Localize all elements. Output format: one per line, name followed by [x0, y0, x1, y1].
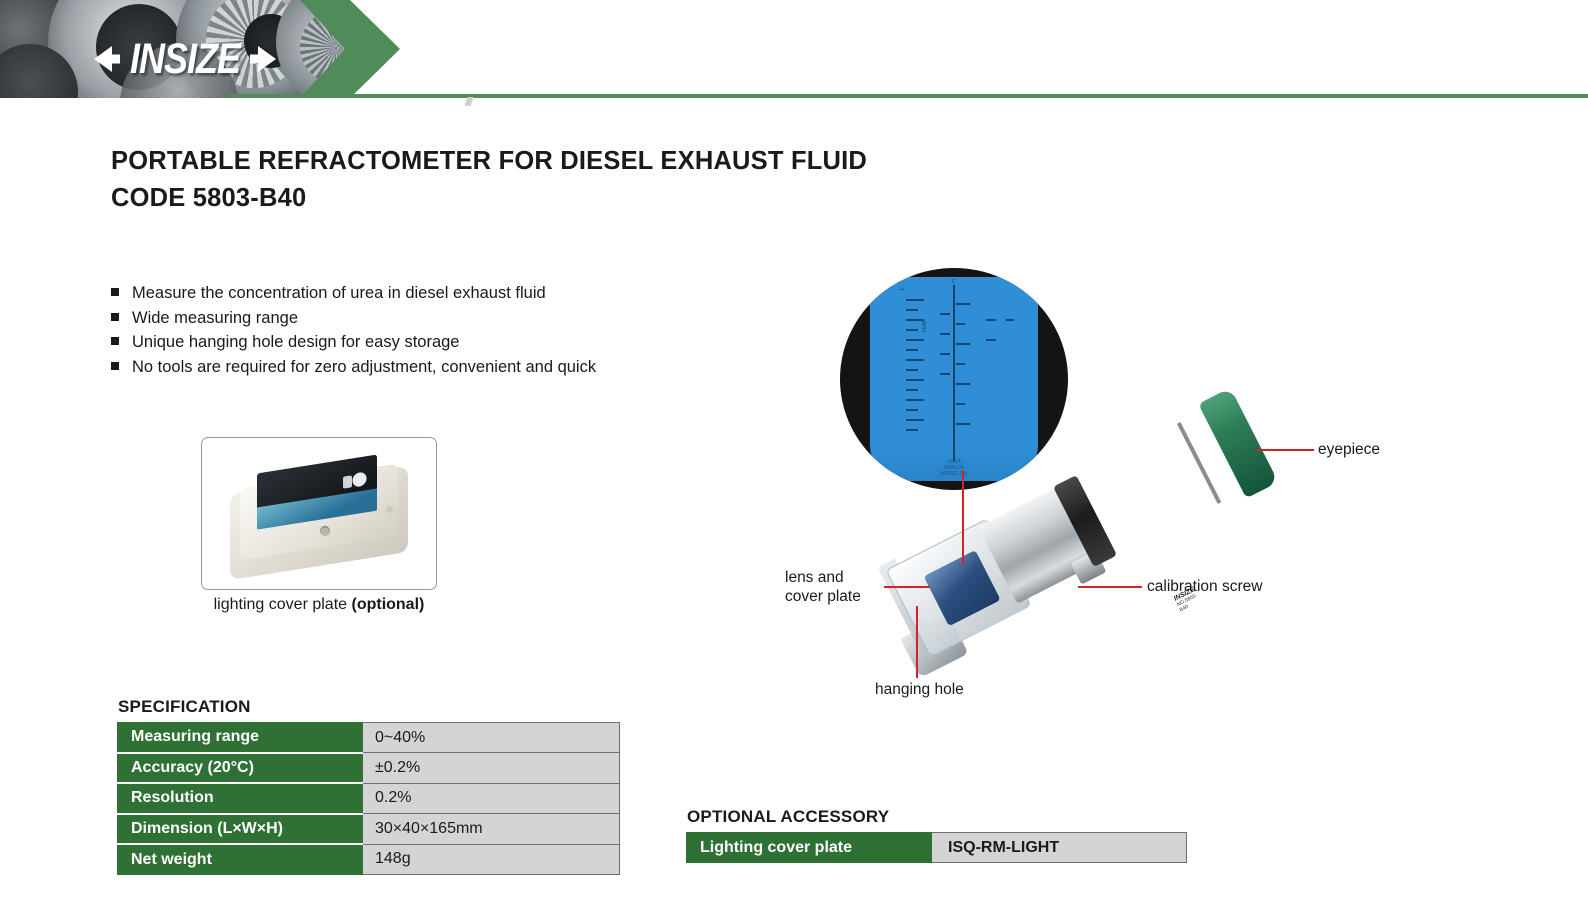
lighting-cover-plate-photo: [201, 437, 437, 590]
specification-table: Measuring range 0~40% Accuracy (20°C) ±0…: [117, 722, 620, 875]
spec-label: Resolution: [118, 783, 363, 814]
table-row: Accuracy (20°C) ±0.2%: [118, 753, 620, 784]
scale-unit-label: °C: [950, 279, 956, 285]
table-row: Resolution 0.2%: [118, 783, 620, 814]
optional-accessory-heading: OPTIONAL ACCESSORY: [687, 807, 889, 827]
spec-label: Measuring range: [118, 723, 363, 753]
header-green-rule: [228, 94, 1588, 98]
list-item: Wide measuring range: [111, 306, 596, 331]
spec-value: 0~40%: [363, 723, 620, 753]
logo-right-arrow-icon: [258, 46, 276, 72]
table-row: Dimension (L×W×H) 30×40×165mm: [118, 814, 620, 845]
accessory-code: ISQ-RM-LIGHT: [932, 833, 1187, 863]
feature-text: Unique hanging hole design for easy stor…: [132, 330, 459, 355]
lens-leader-line: [884, 586, 930, 588]
scale-leader-line: [962, 470, 964, 565]
spec-value: 148g: [363, 844, 620, 874]
table-row: Lighting cover plate ISQ-RM-LIGHT: [687, 833, 1187, 863]
table-row: Net weight 148g: [118, 844, 620, 874]
cover-plate-caption: lighting cover plate (optional): [201, 596, 437, 614]
scale-brix-label: BRIX: [920, 321, 926, 333]
accessory-label: Lighting cover plate: [687, 833, 932, 863]
caption-text: lighting cover plate: [214, 596, 352, 613]
eyepiece-leader-line: [1256, 449, 1314, 451]
table-row: Measuring range 0~40%: [118, 723, 620, 753]
cover-plate-illustration: [202, 438, 436, 589]
feature-text: Wide measuring range: [132, 306, 298, 331]
header-tick-mark: [465, 97, 474, 106]
callout-hanging-hole: hanging hole: [875, 680, 964, 699]
list-item: Unique hanging hole design for easy stor…: [111, 330, 596, 355]
insize-logo: INSIZE: [96, 36, 274, 82]
product-code-line: CODE 5803-B40: [111, 180, 867, 217]
specification-heading: SPECIFICATION: [118, 697, 251, 717]
feature-text: Measure the concentration of urea in die…: [132, 281, 546, 306]
square-bullet-icon: [111, 337, 119, 345]
refractometer-illustration: INSIZENO.5803-B40: [880, 400, 1320, 660]
calibration-screw-leader-line: [1078, 586, 1142, 588]
list-item: Measure the concentration of urea in die…: [111, 281, 596, 306]
spec-label: Net weight: [118, 844, 363, 874]
header-machinery-photo: INSIZE: [0, 0, 348, 98]
square-bullet-icon: [111, 313, 119, 321]
spec-label: Dimension (L×W×H): [118, 814, 363, 845]
spec-label: Accuracy (20°C): [118, 753, 363, 784]
page-header: INSIZE: [0, 0, 1588, 100]
callout-lens-cover-plate: lens and cover plate: [785, 568, 861, 606]
scale-plusminus-icon: −+: [898, 287, 904, 293]
list-item: No tools are required for zero adjustmen…: [111, 355, 596, 380]
hanging-hole-leader-line: [916, 606, 918, 678]
square-bullet-icon: [111, 362, 119, 370]
brand-wordmark: INSIZE: [130, 38, 240, 80]
callout-calibration-screw: calibration screw: [1147, 577, 1262, 596]
logo-left-bar-icon: [108, 55, 120, 64]
callout-lens-line-1: lens and: [785, 569, 844, 586]
callout-eyepiece: eyepiece: [1318, 440, 1380, 459]
feature-text: No tools are required for zero adjustmen…: [132, 355, 596, 380]
feature-list: Measure the concentration of urea in die…: [111, 281, 596, 379]
product-title-line-1: PORTABLE REFRACTOMETER FOR DIESEL EXHAUS…: [111, 143, 867, 180]
spec-value: ±0.2%: [363, 753, 620, 784]
page-title: PORTABLE REFRACTOMETER FOR DIESEL EXHAUS…: [111, 143, 867, 217]
spec-value: 30×40×165mm: [363, 814, 620, 845]
callout-lens-line-2: cover plate: [785, 588, 861, 605]
spec-value: 0.2%: [363, 783, 620, 814]
optional-accessory-table: Lighting cover plate ISQ-RM-LIGHT: [686, 832, 1187, 863]
square-bullet-icon: [111, 288, 119, 296]
caption-optional: (optional): [351, 596, 424, 613]
